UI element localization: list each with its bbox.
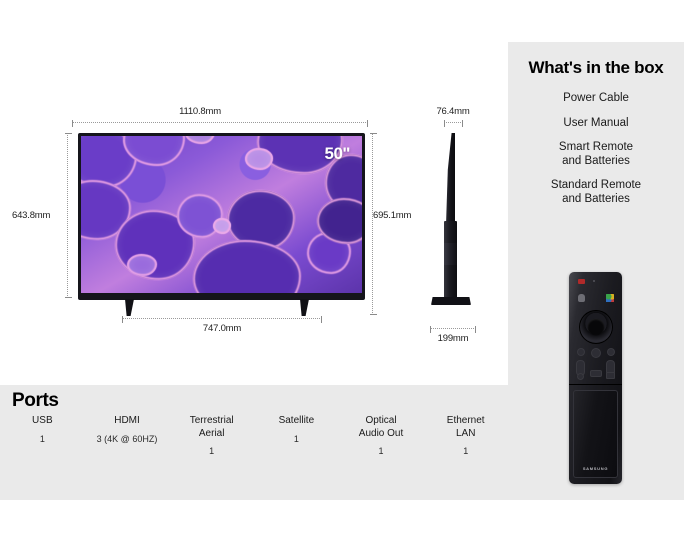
tv-screen: 50" (81, 136, 362, 293)
tv-side-panel (446, 133, 455, 225)
port-column: HDMI 3 (4K @ 60HZ) (85, 415, 170, 456)
port-name: HDMI (85, 415, 170, 428)
ports-title: Ports (12, 390, 59, 412)
tv-bezel: 50" (78, 133, 365, 300)
whats-in-the-box-title: What's in the box (508, 58, 684, 78)
tv-stand-leg-left (125, 299, 134, 316)
port-column: Satellite 1 (254, 415, 339, 456)
tv-side-body-bulge (444, 243, 457, 265)
color-keys-button-icon (606, 294, 614, 302)
port-column: USB 1 (0, 415, 85, 456)
dim-tick (444, 120, 445, 127)
port-name: Ethernet LAN (423, 415, 508, 440)
box-item: Power Cable (508, 92, 684, 106)
dim-tick (462, 120, 463, 127)
port-column: Optical Audio Out 1 (339, 415, 424, 456)
tv-side-foot (431, 297, 471, 305)
power-button-icon (578, 279, 585, 284)
directional-pad (579, 310, 613, 344)
remote-brand-logo: SAMSUNG (574, 466, 617, 471)
led-indicator-icon (593, 280, 595, 282)
port-name: Terrestrial Aerial (169, 415, 254, 440)
port-name: Satellite (254, 415, 339, 428)
tv-side-view (424, 133, 486, 308)
dim-stand-depth-label: 199mm (438, 333, 469, 344)
dim-height-line-right (372, 133, 374, 315)
smart-hub-button-icon (590, 370, 602, 377)
dim-tick (430, 326, 431, 333)
dim-height-with-stand-label: 695.1mm (373, 210, 411, 221)
product-spec-canvas: 1110.8mm 643.8mm 695.1mm (0, 0, 684, 547)
dim-depth-line (444, 122, 463, 124)
guide-button-icon (607, 348, 615, 356)
port-column: Ethernet LAN 1 (423, 415, 508, 456)
dim-tick (122, 316, 123, 323)
select-button-icon (587, 319, 604, 336)
screen-size-badge: 50" (325, 144, 350, 164)
box-item: User Manual (508, 117, 684, 131)
tv-stand-leg-right (300, 299, 309, 316)
port-column: Terrestrial Aerial 1 (169, 415, 254, 456)
port-value: 1 (254, 434, 339, 444)
dim-height-line-left (67, 133, 69, 298)
whats-in-the-box-section: What's in the box Power Cable User Manua… (508, 58, 684, 217)
dim-stand-depth-line (430, 328, 476, 330)
dim-tick (72, 120, 73, 127)
dim-depth-label: 76.4mm (436, 106, 469, 117)
mute-button-icon (577, 373, 584, 380)
port-value: 1 (339, 446, 424, 456)
box-item: Smart Remote and Batteries (508, 141, 684, 168)
dim-tick (367, 120, 368, 127)
remote-lower-face: SAMSUNG (573, 390, 618, 478)
dim-stand-width-line (122, 318, 322, 320)
back-button-icon (577, 348, 585, 356)
smart-remote: SAMSUNG (569, 272, 622, 484)
box-item: Standard Remote and Batteries (508, 179, 684, 206)
port-value: 3 (4K @ 60HZ) (85, 434, 170, 444)
dim-tick (321, 316, 322, 323)
dim-height-no-stand-label: 643.8mm (12, 210, 50, 221)
microphone-button-icon (578, 294, 585, 302)
port-name: USB (0, 415, 85, 428)
settings-button-icon (606, 372, 615, 379)
remote-upper-face (569, 272, 622, 385)
dim-stand-width-label: 747.0mm (203, 323, 241, 334)
dim-tick (370, 314, 377, 315)
port-name: Optical Audio Out (339, 415, 424, 440)
dim-tick (65, 133, 72, 134)
ports-grid: USB 1 HDMI 3 (4K @ 60HZ) Terrestrial Aer… (0, 415, 508, 456)
tv-front-view: 50" (78, 133, 365, 300)
home-button-icon (591, 348, 601, 358)
port-value: 1 (0, 434, 85, 444)
port-value: 1 (169, 446, 254, 456)
dim-tick (475, 326, 476, 333)
port-value: 1 (423, 446, 508, 456)
dim-width-with-stand-label: 1110.8mm (179, 106, 221, 117)
dim-width-line (72, 122, 368, 124)
dim-tick (370, 133, 377, 134)
dim-tick (65, 297, 72, 298)
